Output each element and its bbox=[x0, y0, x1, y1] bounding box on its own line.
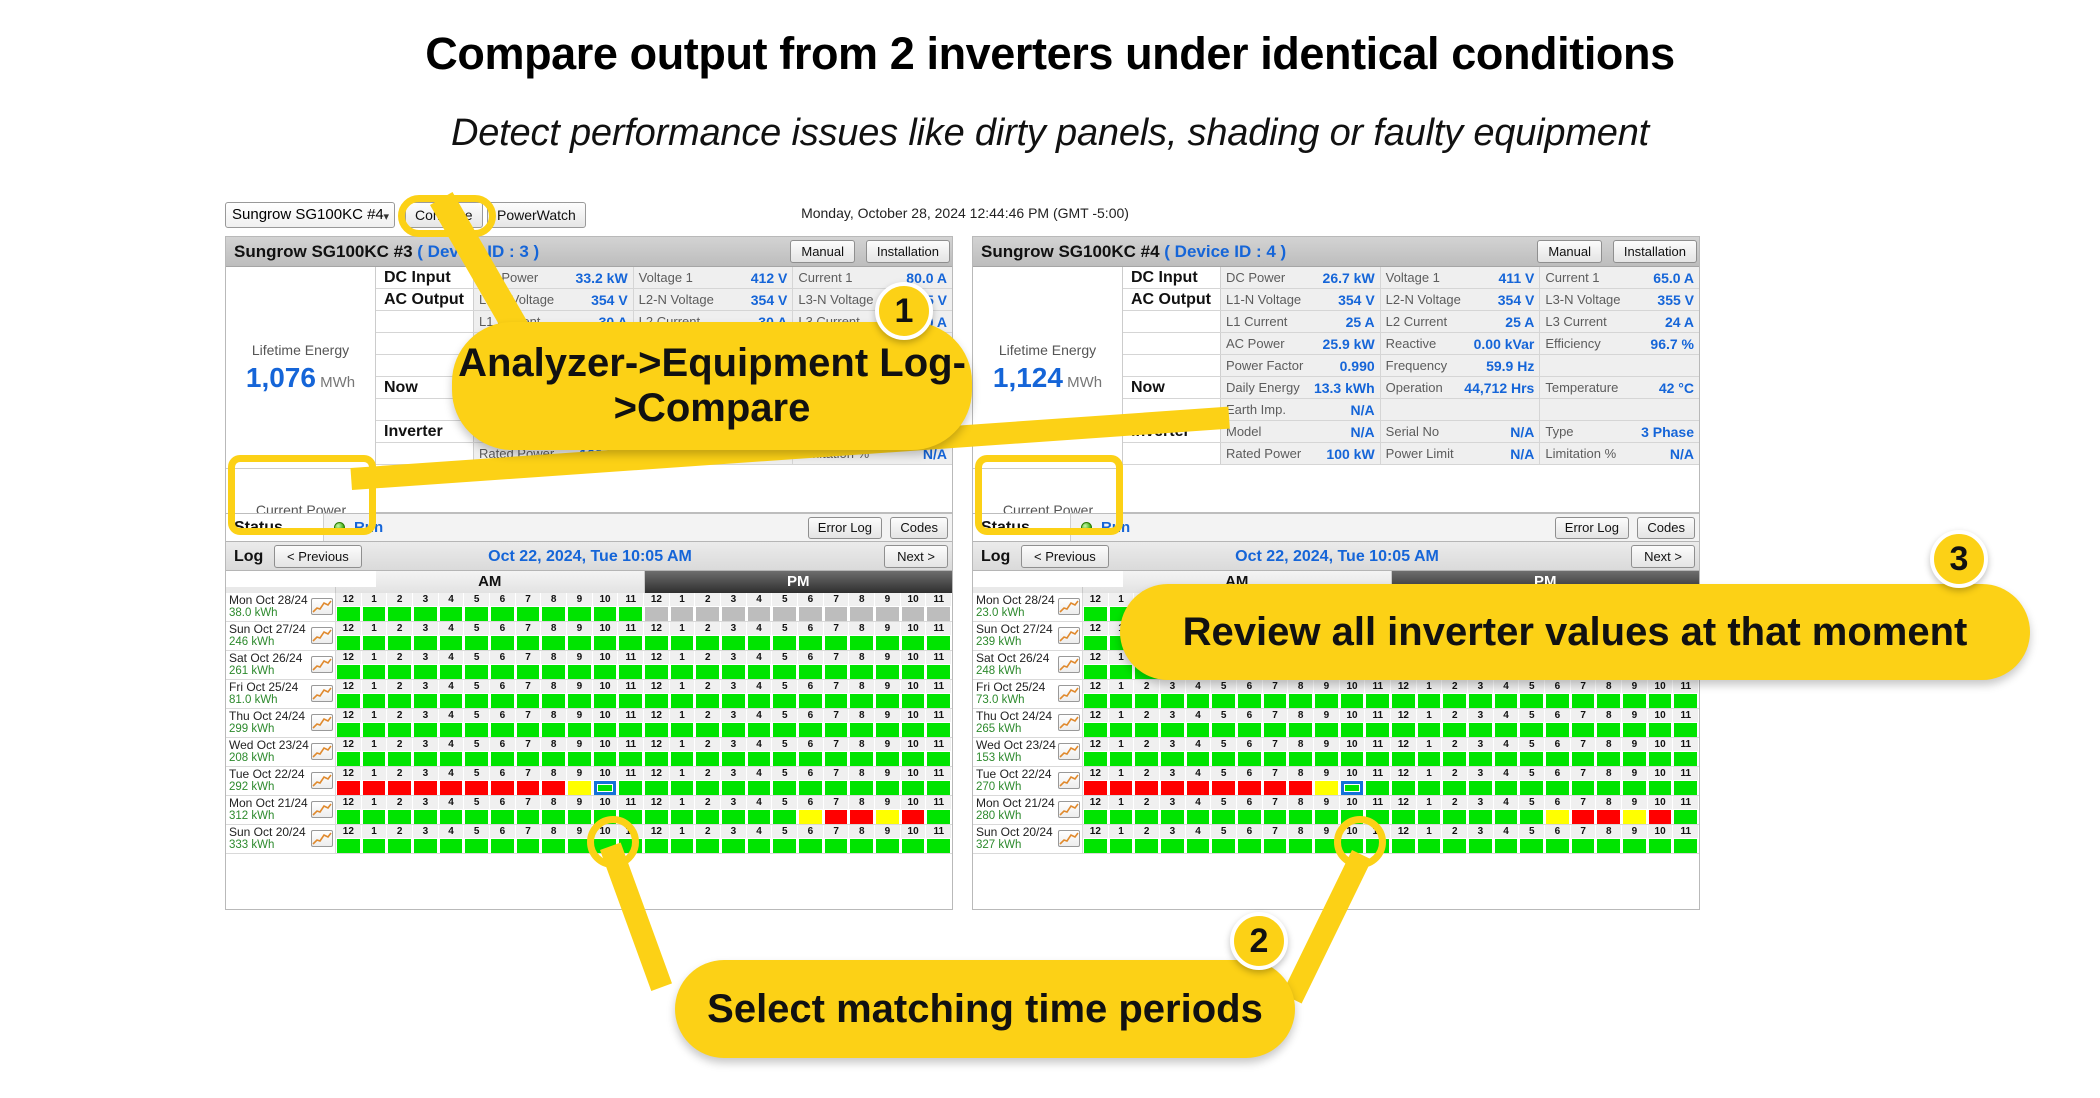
hour-cell[interactable]: 6 bbox=[490, 651, 516, 679]
hour-cell[interactable]: 2 bbox=[1442, 709, 1468, 737]
hour-cell[interactable]: 8 bbox=[541, 622, 567, 650]
hour-cell[interactable]: 1 bbox=[362, 796, 388, 824]
hour-status-box[interactable] bbox=[722, 839, 745, 853]
hour-cell[interactable]: 1 bbox=[362, 738, 388, 766]
hour-cell[interactable]: 3 bbox=[1468, 825, 1494, 853]
hour-status-box[interactable] bbox=[440, 665, 463, 679]
hour-cell[interactable]: 6 bbox=[1237, 709, 1263, 737]
hour-cell[interactable]: 1 bbox=[1109, 709, 1135, 737]
hour-status-box[interactable] bbox=[748, 636, 771, 650]
hour-cell[interactable]: 1 bbox=[362, 651, 388, 679]
hour-status-box[interactable] bbox=[337, 607, 360, 621]
hour-cell[interactable]: 12 bbox=[1391, 680, 1417, 708]
hour-cell[interactable]: 10 bbox=[593, 767, 619, 795]
hour-status-box[interactable] bbox=[876, 723, 899, 737]
hour-cell[interactable]: 12 bbox=[336, 796, 362, 824]
hour-cell[interactable]: 3 bbox=[413, 622, 439, 650]
hour-cell[interactable]: 9 bbox=[1314, 767, 1340, 795]
hour-status-box[interactable] bbox=[1469, 694, 1492, 708]
hour-cell[interactable]: 3 bbox=[413, 651, 439, 679]
chart-icon[interactable] bbox=[1058, 598, 1080, 615]
hour-cell[interactable]: 9 bbox=[567, 796, 593, 824]
hour-status-box[interactable] bbox=[1520, 810, 1543, 824]
hour-cell[interactable]: 6 bbox=[490, 825, 516, 853]
hour-status-box[interactable] bbox=[1212, 752, 1235, 766]
hour-cell[interactable]: 9 bbox=[1622, 738, 1648, 766]
hour-cell[interactable]: 2 bbox=[695, 767, 721, 795]
hour-status-box[interactable] bbox=[671, 781, 694, 795]
hour-cell[interactable]: 6 bbox=[490, 709, 516, 737]
hour-cell[interactable]: 12 bbox=[644, 622, 670, 650]
installation-button[interactable]: Installation bbox=[1613, 240, 1697, 263]
chart-icon[interactable] bbox=[311, 714, 333, 731]
hour-status-box[interactable] bbox=[414, 810, 437, 824]
hour-status-box[interactable] bbox=[619, 752, 642, 766]
hour-cell[interactable]: 11 bbox=[1673, 738, 1699, 766]
hour-cell[interactable]: 4 bbox=[439, 709, 465, 737]
hour-cell[interactable]: 10 bbox=[593, 651, 619, 679]
hour-status-box[interactable] bbox=[799, 752, 822, 766]
hour-status-box[interactable] bbox=[1110, 752, 1133, 766]
hour-cell[interactable]: 7 bbox=[516, 767, 542, 795]
hour-status-box[interactable] bbox=[542, 723, 565, 737]
hour-status-box[interactable] bbox=[671, 723, 694, 737]
hour-cell[interactable]: 4 bbox=[747, 622, 773, 650]
hour-status-box[interactable] bbox=[1469, 781, 1492, 795]
hour-cell[interactable]: 9 bbox=[1622, 796, 1648, 824]
hour-cell[interactable]: 8 bbox=[849, 738, 875, 766]
hour-cell[interactable]: 9 bbox=[567, 680, 593, 708]
hour-status-box[interactable] bbox=[465, 810, 488, 824]
hour-cell[interactable]: 1 bbox=[1417, 796, 1443, 824]
hour-status-box[interactable] bbox=[645, 665, 668, 679]
hour-status-box[interactable] bbox=[1366, 752, 1389, 766]
hour-status-box[interactable] bbox=[1674, 694, 1697, 708]
hour-status-box[interactable] bbox=[337, 636, 360, 650]
hour-status-box[interactable] bbox=[1366, 694, 1389, 708]
hour-cell[interactable]: 6 bbox=[1545, 767, 1571, 795]
hour-cell[interactable]: 1 bbox=[362, 825, 388, 853]
hour-cell[interactable]: 10 bbox=[901, 796, 927, 824]
hour-status-box[interactable] bbox=[645, 752, 668, 766]
hour-status-box[interactable] bbox=[594, 636, 617, 650]
hour-cell[interactable]: 10 bbox=[1340, 825, 1366, 853]
codes-button[interactable]: Codes bbox=[1637, 517, 1695, 539]
hour-cell[interactable]: 12 bbox=[336, 622, 362, 650]
hour-status-box[interactable] bbox=[337, 694, 360, 708]
hour-cell[interactable]: 5 bbox=[1211, 738, 1237, 766]
hour-cell[interactable]: 2 bbox=[387, 738, 413, 766]
hour-status-box[interactable] bbox=[1649, 810, 1672, 824]
hour-status-box[interactable] bbox=[542, 810, 565, 824]
hour-cell[interactable]: 3 bbox=[721, 796, 747, 824]
hour-cell[interactable]: 6 bbox=[1237, 767, 1263, 795]
hour-cell[interactable]: 7 bbox=[824, 738, 850, 766]
hour-status-box[interactable] bbox=[388, 636, 411, 650]
hour-cell[interactable]: 7 bbox=[824, 651, 850, 679]
hour-status-box[interactable] bbox=[1110, 665, 1133, 679]
hour-cell[interactable]: 11 bbox=[1365, 709, 1391, 737]
chart-icon[interactable] bbox=[311, 598, 333, 615]
hour-cell[interactable]: 2 bbox=[387, 622, 413, 650]
hour-status-box[interactable] bbox=[1084, 752, 1107, 766]
hour-cell[interactable]: 7 bbox=[516, 622, 542, 650]
hour-status-box[interactable] bbox=[542, 839, 565, 853]
hour-cell[interactable]: 7 bbox=[824, 709, 850, 737]
hour-cell[interactable]: 4 bbox=[439, 593, 465, 621]
log-row[interactable]: Wed Oct 23/24208 kWh12123456789101112123… bbox=[226, 738, 952, 767]
hour-status-box[interactable] bbox=[1289, 839, 1312, 853]
hour-cell[interactable]: 7 bbox=[824, 622, 850, 650]
hour-status-box[interactable] bbox=[773, 781, 796, 795]
hour-status-box[interactable] bbox=[825, 636, 848, 650]
hour-status-box[interactable] bbox=[876, 694, 899, 708]
hour-cell[interactable]: 9 bbox=[567, 709, 593, 737]
hour-cell[interactable]: 4 bbox=[1494, 796, 1520, 824]
hour-status-box[interactable] bbox=[927, 636, 950, 650]
hour-status-box[interactable] bbox=[594, 723, 617, 737]
hour-cell[interactable]: 11 bbox=[926, 709, 952, 737]
hour-cell[interactable]: 12 bbox=[1391, 738, 1417, 766]
hour-cell[interactable]: 3 bbox=[1160, 680, 1186, 708]
hour-cell[interactable]: 4 bbox=[1494, 825, 1520, 853]
hour-cell[interactable]: 12 bbox=[1083, 825, 1109, 853]
hour-cell[interactable]: 9 bbox=[1622, 680, 1648, 708]
hour-cell[interactable]: 9 bbox=[875, 738, 901, 766]
hour-cell[interactable]: 10 bbox=[1340, 738, 1366, 766]
hour-cell[interactable]: 8 bbox=[541, 825, 567, 853]
hour-cell[interactable]: 6 bbox=[798, 622, 824, 650]
hour-status-box[interactable] bbox=[594, 607, 617, 621]
hour-status-box[interactable] bbox=[1212, 839, 1235, 853]
hour-cell[interactable]: 6 bbox=[1237, 680, 1263, 708]
hour-status-box[interactable] bbox=[1264, 810, 1287, 824]
hour-status-box[interactable] bbox=[1520, 839, 1543, 853]
hour-cell[interactable]: 8 bbox=[1596, 738, 1622, 766]
hour-cell[interactable]: 2 bbox=[1134, 680, 1160, 708]
hour-cell[interactable]: 2 bbox=[387, 593, 413, 621]
hour-cell[interactable]: 7 bbox=[1571, 767, 1597, 795]
hour-status-box[interactable] bbox=[1135, 781, 1158, 795]
hour-cell[interactable]: 3 bbox=[413, 796, 439, 824]
hour-cell[interactable]: 4 bbox=[439, 767, 465, 795]
hour-status-box[interactable] bbox=[1418, 781, 1441, 795]
hour-cell[interactable]: 7 bbox=[516, 738, 542, 766]
hour-status-box[interactable] bbox=[696, 752, 719, 766]
hour-status-box[interactable] bbox=[773, 636, 796, 650]
hour-cell[interactable]: 11 bbox=[618, 767, 644, 795]
hour-status-box[interactable] bbox=[1443, 810, 1466, 824]
hour-status-box[interactable] bbox=[1443, 781, 1466, 795]
hour-cell[interactable]: 3 bbox=[413, 767, 439, 795]
hour-status-box[interactable] bbox=[440, 810, 463, 824]
hour-cell[interactable]: 11 bbox=[618, 593, 644, 621]
hour-status-box[interactable] bbox=[491, 694, 514, 708]
hour-cell[interactable]: 8 bbox=[1596, 709, 1622, 737]
hour-status-box[interactable] bbox=[850, 694, 873, 708]
hour-cell[interactable]: 1 bbox=[670, 767, 696, 795]
hour-status-box[interactable] bbox=[619, 781, 642, 795]
hour-status-box[interactable] bbox=[1341, 723, 1364, 737]
hour-cell[interactable]: 11 bbox=[1673, 680, 1699, 708]
hour-cell[interactable]: 9 bbox=[567, 767, 593, 795]
hour-cell[interactable]: 7 bbox=[824, 680, 850, 708]
hour-cell[interactable]: 8 bbox=[1288, 825, 1314, 853]
hour-cell[interactable]: 5 bbox=[464, 651, 490, 679]
hour-cell[interactable]: 8 bbox=[1596, 680, 1622, 708]
hour-status-box[interactable] bbox=[850, 839, 873, 853]
hour-status-box[interactable] bbox=[1597, 694, 1620, 708]
hour-status-box[interactable] bbox=[491, 810, 514, 824]
hour-status-box[interactable] bbox=[748, 723, 771, 737]
hour-status-box[interactable] bbox=[1238, 839, 1261, 853]
hour-status-box[interactable] bbox=[1366, 781, 1389, 795]
log-row[interactable]: Tue Oct 22/24292 kWh12123456789101112123… bbox=[226, 767, 952, 796]
hour-status-box[interactable] bbox=[825, 752, 848, 766]
hour-status-box[interactable] bbox=[1546, 781, 1569, 795]
hour-status-box[interactable] bbox=[440, 694, 463, 708]
hour-status-box[interactable] bbox=[850, 636, 873, 650]
hour-cell[interactable]: 8 bbox=[1288, 709, 1314, 737]
hour-status-box[interactable] bbox=[363, 839, 386, 853]
hour-cell[interactable]: 4 bbox=[747, 651, 773, 679]
hour-cell[interactable]: 5 bbox=[1519, 709, 1545, 737]
hour-status-box[interactable] bbox=[1161, 781, 1184, 795]
hour-status-box[interactable] bbox=[1238, 694, 1261, 708]
hour-status-box[interactable] bbox=[876, 752, 899, 766]
hour-cell[interactable]: 1 bbox=[670, 738, 696, 766]
hour-cell[interactable]: 1 bbox=[1417, 680, 1443, 708]
log-row[interactable]: Sun Oct 20/24333 kWh12123456789101112123… bbox=[226, 825, 952, 854]
hour-cell[interactable]: 7 bbox=[1263, 825, 1289, 853]
hour-cell[interactable]: 5 bbox=[772, 738, 798, 766]
hour-cell[interactable]: 12 bbox=[644, 738, 670, 766]
hour-cell[interactable]: 12 bbox=[644, 680, 670, 708]
hour-cell[interactable]: 6 bbox=[490, 622, 516, 650]
hour-cell[interactable]: 3 bbox=[413, 738, 439, 766]
hour-cell[interactable]: 2 bbox=[695, 796, 721, 824]
hour-cell[interactable]: 12 bbox=[644, 709, 670, 737]
hour-cell[interactable]: 11 bbox=[618, 680, 644, 708]
hour-cell[interactable]: 12 bbox=[1083, 593, 1109, 621]
hour-status-box[interactable] bbox=[1649, 694, 1672, 708]
hour-cell[interactable]: 6 bbox=[490, 767, 516, 795]
hour-cell[interactable]: 8 bbox=[541, 796, 567, 824]
hour-status-box[interactable] bbox=[1649, 723, 1672, 737]
hour-status-box[interactable] bbox=[1623, 839, 1646, 853]
hour-cell[interactable]: 10 bbox=[593, 593, 619, 621]
hour-cell[interactable]: 10 bbox=[901, 680, 927, 708]
hour-cell[interactable]: 9 bbox=[875, 767, 901, 795]
hour-cell[interactable]: 6 bbox=[490, 796, 516, 824]
hour-status-box[interactable] bbox=[722, 607, 745, 621]
hour-status-box[interactable] bbox=[1341, 810, 1364, 824]
hour-status-box[interactable] bbox=[773, 723, 796, 737]
hour-status-box[interactable] bbox=[1572, 810, 1595, 824]
hour-status-box[interactable] bbox=[414, 781, 437, 795]
hour-cell[interactable]: 9 bbox=[875, 651, 901, 679]
hour-cell[interactable]: 3 bbox=[721, 680, 747, 708]
hour-cell[interactable]: 5 bbox=[772, 767, 798, 795]
hour-status-box[interactable] bbox=[1084, 781, 1107, 795]
hour-status-box[interactable] bbox=[517, 781, 540, 795]
hour-status-box[interactable] bbox=[1418, 839, 1441, 853]
hour-status-box[interactable] bbox=[773, 694, 796, 708]
hour-cell[interactable]: 10 bbox=[1648, 738, 1674, 766]
hour-cell[interactable]: 3 bbox=[413, 593, 439, 621]
hour-status-box[interactable] bbox=[1289, 810, 1312, 824]
hour-status-box[interactable] bbox=[1418, 694, 1441, 708]
hour-status-box[interactable] bbox=[337, 752, 360, 766]
hour-status-box[interactable] bbox=[363, 636, 386, 650]
hour-status-box[interactable] bbox=[1110, 723, 1133, 737]
installation-button[interactable]: Installation bbox=[866, 240, 950, 263]
hour-status-box[interactable] bbox=[1597, 810, 1620, 824]
hour-status-box[interactable] bbox=[1597, 781, 1620, 795]
hour-status-box[interactable] bbox=[619, 723, 642, 737]
hour-cell[interactable]: 7 bbox=[516, 709, 542, 737]
hour-status-box[interactable] bbox=[1443, 839, 1466, 853]
hour-status-box[interactable] bbox=[773, 839, 796, 853]
hour-status-box[interactable] bbox=[1597, 752, 1620, 766]
hour-cell[interactable]: 2 bbox=[387, 709, 413, 737]
hour-cell[interactable]: 5 bbox=[1519, 767, 1545, 795]
hour-cell[interactable]: 6 bbox=[798, 593, 824, 621]
hour-cell[interactable]: 1 bbox=[670, 622, 696, 650]
hour-status-box[interactable] bbox=[440, 636, 463, 650]
hour-cell[interactable]: 7 bbox=[1571, 738, 1597, 766]
hour-status-box[interactable] bbox=[773, 665, 796, 679]
hour-status-box[interactable] bbox=[1469, 839, 1492, 853]
hour-status-box[interactable] bbox=[465, 636, 488, 650]
hour-cell[interactable]: 12 bbox=[1083, 709, 1109, 737]
hour-cell[interactable]: 2 bbox=[1134, 825, 1160, 853]
hour-status-box[interactable] bbox=[1084, 723, 1107, 737]
hour-cell[interactable]: 11 bbox=[1365, 680, 1391, 708]
hour-status-box[interactable] bbox=[388, 607, 411, 621]
hour-cell[interactable]: 4 bbox=[439, 796, 465, 824]
hour-cell[interactable]: 9 bbox=[1622, 709, 1648, 737]
hour-cell[interactable]: 2 bbox=[387, 796, 413, 824]
hour-status-box[interactable] bbox=[337, 839, 360, 853]
hour-cell[interactable]: 12 bbox=[1083, 680, 1109, 708]
hour-status-box[interactable] bbox=[1443, 752, 1466, 766]
hour-cell[interactable]: 2 bbox=[695, 622, 721, 650]
hour-status-box[interactable] bbox=[1135, 839, 1158, 853]
hour-cell[interactable]: 8 bbox=[1288, 738, 1314, 766]
hour-cell[interactable]: 12 bbox=[1391, 709, 1417, 737]
hour-status-box[interactable] bbox=[927, 839, 950, 853]
hour-cell[interactable]: 10 bbox=[593, 709, 619, 737]
hour-status-box[interactable] bbox=[1546, 810, 1569, 824]
hour-status-box[interactable] bbox=[1135, 810, 1158, 824]
hour-cell[interactable]: 11 bbox=[926, 796, 952, 824]
hour-status-box[interactable] bbox=[1315, 752, 1338, 766]
hour-cell[interactable]: 1 bbox=[1109, 767, 1135, 795]
hour-cell[interactable]: 8 bbox=[849, 593, 875, 621]
hour-cell[interactable]: 1 bbox=[362, 680, 388, 708]
hour-status-box[interactable] bbox=[1315, 839, 1338, 853]
hour-cell[interactable]: 10 bbox=[1648, 825, 1674, 853]
chart-icon[interactable] bbox=[311, 801, 333, 818]
hour-cell[interactable]: 4 bbox=[1186, 767, 1212, 795]
hour-status-box[interactable] bbox=[1187, 752, 1210, 766]
hour-status-box[interactable] bbox=[1341, 694, 1364, 708]
hour-cell[interactable]: 3 bbox=[1468, 738, 1494, 766]
hour-cell[interactable]: 10 bbox=[1340, 796, 1366, 824]
hour-cell[interactable]: 10 bbox=[1648, 680, 1674, 708]
hour-status-box[interactable] bbox=[1495, 723, 1518, 737]
hour-cell[interactable]: 12 bbox=[644, 651, 670, 679]
hour-status-box[interactable] bbox=[1161, 839, 1184, 853]
hour-cell[interactable]: 3 bbox=[413, 680, 439, 708]
hour-status-box[interactable] bbox=[594, 665, 617, 679]
hour-status-box[interactable] bbox=[517, 607, 540, 621]
hour-cell[interactable]: 1 bbox=[670, 709, 696, 737]
hour-status-box[interactable] bbox=[825, 723, 848, 737]
hour-status-box[interactable] bbox=[671, 694, 694, 708]
hour-status-box[interactable] bbox=[619, 810, 642, 824]
hour-cell[interactable]: 12 bbox=[336, 767, 362, 795]
hour-status-box[interactable] bbox=[414, 694, 437, 708]
hour-cell[interactable]: 2 bbox=[1134, 767, 1160, 795]
hour-status-box[interactable] bbox=[517, 723, 540, 737]
chart-icon[interactable] bbox=[1058, 714, 1080, 731]
hour-status-box[interactable] bbox=[1623, 781, 1646, 795]
hour-cell[interactable]: 8 bbox=[1288, 680, 1314, 708]
hour-cell[interactable]: 1 bbox=[1417, 767, 1443, 795]
hour-status-box[interactable] bbox=[825, 781, 848, 795]
hour-status-box[interactable] bbox=[927, 781, 950, 795]
hour-cell[interactable]: 10 bbox=[901, 622, 927, 650]
hour-cell[interactable]: 1 bbox=[1109, 680, 1135, 708]
hour-cell[interactable]: 4 bbox=[1186, 709, 1212, 737]
hour-cell[interactable]: 11 bbox=[618, 622, 644, 650]
hour-status-box[interactable] bbox=[1366, 810, 1389, 824]
hour-cell[interactable]: 12 bbox=[1083, 767, 1109, 795]
hour-cell[interactable]: 11 bbox=[1365, 767, 1391, 795]
hour-cell[interactable]: 1 bbox=[1109, 796, 1135, 824]
hour-status-box[interactable] bbox=[1392, 752, 1415, 766]
hour-status-box[interactable] bbox=[1674, 839, 1697, 853]
hour-cell[interactable]: 5 bbox=[772, 622, 798, 650]
hour-cell[interactable]: 9 bbox=[875, 709, 901, 737]
hour-cell[interactable]: 11 bbox=[618, 709, 644, 737]
hour-cell[interactable]: 9 bbox=[567, 622, 593, 650]
hour-status-box[interactable] bbox=[440, 723, 463, 737]
hour-cell[interactable]: 5 bbox=[772, 796, 798, 824]
hour-status-box[interactable] bbox=[517, 839, 540, 853]
hour-status-box[interactable] bbox=[1418, 810, 1441, 824]
hour-cell[interactable]: 9 bbox=[1622, 825, 1648, 853]
hour-status-box[interactable] bbox=[1623, 723, 1646, 737]
hour-status-box[interactable] bbox=[1520, 781, 1543, 795]
hour-status-box[interactable] bbox=[825, 839, 848, 853]
hour-cell[interactable]: 4 bbox=[747, 738, 773, 766]
hour-cell[interactable]: 2 bbox=[387, 767, 413, 795]
next-button[interactable]: Next > bbox=[1631, 545, 1695, 568]
hour-status-box[interactable] bbox=[568, 665, 591, 679]
hour-status-box[interactable] bbox=[1084, 636, 1107, 650]
hour-cell[interactable]: 9 bbox=[1314, 680, 1340, 708]
hour-status-box[interactable] bbox=[440, 839, 463, 853]
hour-status-box[interactable] bbox=[542, 665, 565, 679]
hour-cell[interactable]: 2 bbox=[387, 825, 413, 853]
hour-status-box[interactable] bbox=[876, 607, 899, 621]
hour-cell[interactable]: 7 bbox=[516, 651, 542, 679]
hour-status-box[interactable] bbox=[1212, 694, 1235, 708]
hour-cell[interactable]: 5 bbox=[464, 593, 490, 621]
